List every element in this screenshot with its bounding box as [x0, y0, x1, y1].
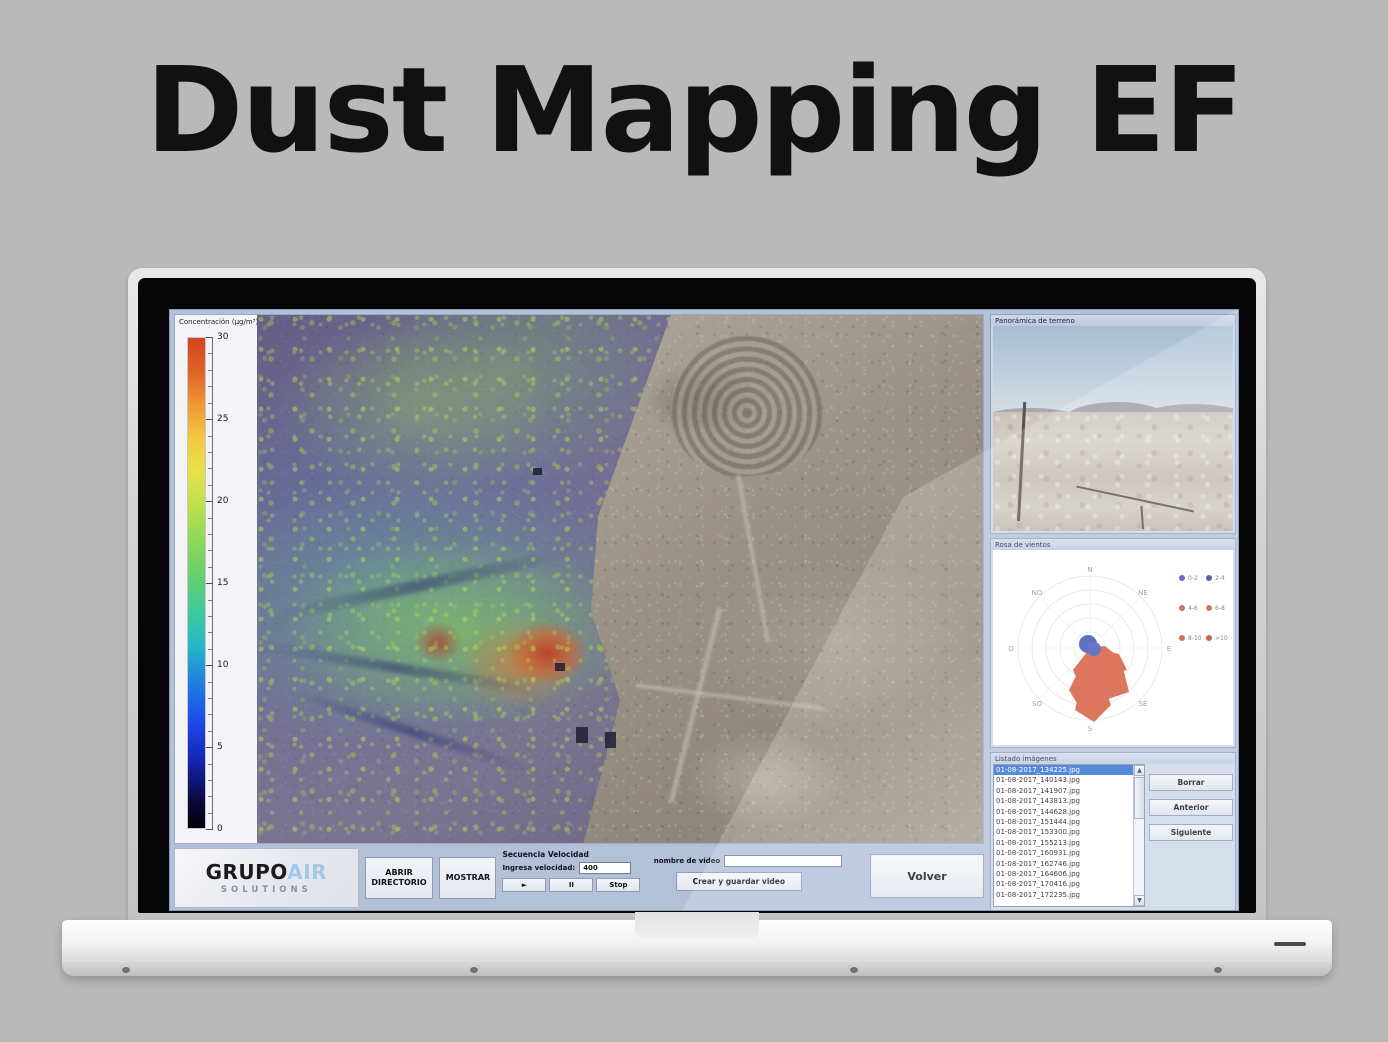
svg-text:0-2: 0-2	[1188, 575, 1198, 582]
colorbar-minor-tick	[208, 796, 212, 797]
filelist-area: 01-08-2017_134225.jpg 01-08-2017_140143.…	[991, 764, 1235, 910]
laptop-foot	[850, 967, 858, 973]
colorbar-tick	[206, 829, 213, 830]
windrose-panel-title: Rosa de vientos	[991, 539, 1235, 550]
velocidad-input[interactable]: 400	[579, 862, 631, 874]
colorbar-minor-tick	[208, 436, 212, 437]
colorbar-minor-tick	[208, 452, 212, 453]
list-item[interactable]: 01-08-2017_172235.jpg	[994, 890, 1144, 900]
dust-mapping-application-window[interactable]: Concentración (µg/m³)	[169, 309, 1239, 911]
list-item[interactable]: 01-08-2017_164606.jpg	[994, 869, 1144, 879]
nombre-video-label: nombre de video	[654, 857, 720, 865]
logo-wordmark: GRUPOAIR	[206, 862, 328, 882]
svg-text:2-4: 2-4	[1215, 575, 1225, 582]
windrose-label-s: S	[1088, 725, 1093, 733]
panorama-panel: Panorámica de terreno	[990, 314, 1236, 534]
panorama-image[interactable]	[993, 326, 1233, 531]
map-structure	[576, 727, 588, 743]
list-item[interactable]: 01-08-2017_170416.jpg	[994, 879, 1144, 889]
colorbar-label: 10	[217, 660, 228, 670]
colorbar-label: 30	[217, 332, 228, 342]
list-item[interactable]: 01-08-2017_162746.jpg	[994, 859, 1144, 869]
laptop-foot	[470, 967, 478, 973]
svg-text:8-10: 8-10	[1188, 635, 1202, 642]
concentration-colorbar-panel: Concentración (µg/m³)	[175, 315, 257, 843]
grupo-air-solutions-logo: GRUPOAIR SOLUTIONS	[174, 848, 359, 908]
map-structure	[555, 663, 565, 671]
list-item[interactable]: 01-08-2017_155213.jpg	[994, 838, 1144, 848]
poster-canvas: Dust Mapping EF Concentración (µg/m³)	[0, 0, 1388, 1042]
windrose-label-n: N	[1087, 566, 1092, 574]
colorbar-label: 5	[217, 742, 223, 752]
list-item[interactable]: 01-08-2017_153300.jpg	[994, 827, 1144, 837]
logo-solutions-text: SOLUTIONS	[221, 885, 312, 895]
windrose-panel: Rosa de vientos	[990, 538, 1236, 748]
colorbar-minor-tick	[208, 698, 212, 699]
colorbar-minor-tick	[208, 632, 212, 633]
list-item[interactable]: 01-08-2017_160931.jpg	[994, 848, 1144, 858]
filelist-panel-title: Listado imágenes	[991, 753, 1235, 764]
colorbar-minor-tick	[208, 813, 212, 814]
windrose-legend: 0-2 2-4 4-6 6-8 8-10 >10	[1179, 575, 1228, 642]
filelist-panel: Listado imágenes 01-08-2017_134225.jpg 0…	[990, 752, 1236, 911]
page-title: Dust Mapping EF	[0, 46, 1388, 176]
windrose-label-so: SO	[1032, 700, 1042, 708]
list-item[interactable]: 01-08-2017_134225.jpg	[994, 765, 1144, 775]
colorbar-tick	[206, 747, 213, 748]
siguiente-button[interactable]: Siguiente	[1149, 824, 1233, 841]
laptop-port-slot	[1274, 942, 1306, 946]
list-item[interactable]: 01-08-2017_141907.jpg	[994, 786, 1144, 796]
scroll-up-icon[interactable]: ▲	[1134, 765, 1145, 776]
video-name-row: nombre de video	[654, 855, 858, 867]
filelist-scrollbar[interactable]: ▲ ▼	[1133, 765, 1144, 906]
colorbar-minor-tick	[208, 550, 212, 551]
svg-text:6-8: 6-8	[1215, 605, 1225, 612]
laptop-mockup: Concentración (µg/m³)	[62, 268, 1332, 988]
secuencia-velocidad-group: Secuencia Velocidad Ingresa velocidad: 4…	[502, 848, 647, 908]
list-item[interactable]: 01-08-2017_144628.jpg	[994, 807, 1144, 817]
colorbar-gradient	[187, 337, 206, 829]
colorbar-minor-tick	[208, 386, 212, 387]
transport-controls: ► II Stop	[502, 878, 647, 892]
filelist-buttons: Borrar Anterior Siguiente	[1149, 764, 1233, 907]
colorbar-minor-tick	[208, 649, 212, 650]
colorbar-minor-tick	[208, 403, 212, 404]
panorama-terrain-texture	[993, 412, 1233, 531]
map-zone: Concentración (µg/m³)	[174, 314, 984, 844]
stop-button[interactable]: Stop	[596, 878, 640, 892]
colorbar-tick	[206, 665, 213, 666]
windrose-label-ne: NE	[1138, 589, 1148, 597]
video-group: nombre de video Crear y guardar video	[654, 848, 858, 908]
laptop-foot	[1214, 967, 1222, 973]
scrollbar-thumb[interactable]	[1134, 777, 1145, 819]
windrose-label-se: SE	[1139, 700, 1148, 708]
colorbar-tick	[206, 337, 213, 338]
colorbar-minor-tick	[208, 764, 212, 765]
laptop-lid: Concentración (µg/m³)	[128, 268, 1266, 923]
colorbar-minor-tick	[208, 600, 212, 601]
colorbar-label: 15	[217, 578, 228, 588]
colorbar-minor-tick	[208, 353, 212, 354]
volver-button[interactable]: Volver	[870, 854, 984, 898]
colorbar-label: 0	[217, 824, 223, 834]
scroll-down-icon[interactable]: ▼	[1134, 895, 1145, 906]
list-item[interactable]: 01-08-2017_151444.jpg	[994, 817, 1144, 827]
svg-text:4-6: 4-6	[1188, 605, 1198, 612]
list-item[interactable]: 01-08-2017_143813.jpg	[994, 796, 1144, 806]
app-body: Concentración (µg/m³)	[170, 310, 1239, 911]
colorbar-minor-tick	[208, 567, 212, 568]
windrose-label-e: E	[1167, 645, 1171, 653]
mostrar-button[interactable]: MOSTRAR	[439, 857, 496, 899]
windrose-svg: N NE E SE S SO O NO	[993, 550, 1233, 745]
laptop-screen: Concentración (µg/m³)	[138, 278, 1256, 913]
image-listbox[interactable]: 01-08-2017_134225.jpg 01-08-2017_140143.…	[993, 764, 1145, 907]
colorbar-label: 25	[217, 414, 228, 424]
anterior-button[interactable]: Anterior	[1149, 799, 1233, 816]
colorbar-minor-tick	[208, 485, 212, 486]
laptop-base	[62, 920, 1332, 976]
windrose-label-o: O	[1008, 645, 1014, 653]
colorbar-minor-tick	[208, 468, 212, 469]
laptop-base-underside	[62, 962, 1332, 976]
colorbar-tick	[206, 501, 213, 502]
colorbar-minor-tick	[208, 731, 212, 732]
colorbar-minor-tick	[208, 518, 212, 519]
colorbar-tick	[206, 419, 213, 420]
dust-concentration-map[interactable]	[257, 315, 983, 843]
list-item[interactable]: 01-08-2017_140143.jpg	[994, 775, 1144, 785]
borrar-button[interactable]: Borrar	[1149, 774, 1233, 791]
colorbar-minor-tick	[208, 780, 212, 781]
colorbar-title: Concentración (µg/m³)	[179, 318, 258, 326]
velocidad-label: Ingresa velocidad:	[502, 864, 575, 872]
colorbar-minor-tick	[208, 534, 212, 535]
windrose-label-no: NO	[1032, 589, 1043, 597]
map-structure	[533, 468, 542, 475]
laptop-lid-latch	[635, 912, 759, 938]
colorbar-minor-tick	[208, 370, 212, 371]
pause-button[interactable]: II	[549, 878, 593, 892]
svg-text:>10: >10	[1215, 635, 1228, 642]
nombre-video-input[interactable]	[724, 855, 842, 867]
bottom-toolbar: GRUPOAIR SOLUTIONS ABRIR DIRECTORIO MOST…	[174, 848, 984, 908]
map-structure	[605, 732, 616, 748]
right-panel-column: Panorámica de terreno	[990, 314, 1236, 911]
windrose-chart[interactable]: N NE E SE S SO O NO	[993, 550, 1233, 745]
play-button[interactable]: ►	[502, 878, 546, 892]
panorama-panel-title: Panorámica de terreno	[991, 315, 1235, 326]
secuencia-velocidad-title: Secuencia Velocidad	[502, 850, 647, 859]
abrir-directorio-button[interactable]: ABRIR DIRECTORIO	[365, 857, 434, 899]
logo-grupo-text: GRUPO	[206, 860, 288, 884]
colorbar-minor-tick	[208, 682, 212, 683]
colorbar-minor-tick	[208, 714, 212, 715]
crear-guardar-video-button[interactable]: Crear y guardar video	[676, 872, 802, 891]
velocidad-row: Ingresa velocidad: 400	[502, 862, 647, 874]
colorbar-tick	[206, 583, 213, 584]
laptop-foot	[122, 967, 130, 973]
colorbar-minor-tick	[208, 616, 212, 617]
logo-air-text: AIR	[287, 860, 327, 884]
colorbar-label: 20	[217, 496, 228, 506]
